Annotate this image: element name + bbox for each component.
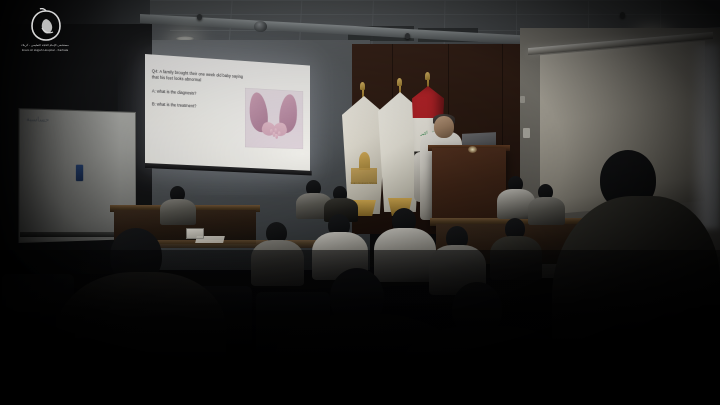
speaker-head — [434, 116, 454, 138]
projection-screen: Q4: A family brought their one week old … — [145, 54, 310, 172]
daylight-leak — [690, 44, 720, 229]
slide-part-a: A: what is the diagnosis? — [152, 88, 246, 99]
nameplate — [186, 228, 204, 239]
dome-camera-icon — [254, 21, 267, 32]
flag-finial — [425, 72, 430, 80]
lecture-hall-photo: Q4: A family brought their one week old … — [0, 0, 720, 405]
sprinkler-icon — [620, 12, 625, 18]
pomegranate-logo-icon — [30, 8, 62, 42]
flag-finial — [397, 78, 402, 86]
sprinkler-icon — [405, 33, 410, 39]
light-switch[interactable] — [523, 128, 530, 138]
floor-darkness — [0, 250, 720, 405]
hospital-watermark: مستشفى الإمام الحجة التعليمي - كربلاء Im… — [8, 6, 82, 56]
lectern — [432, 148, 506, 226]
flag-finial — [360, 82, 365, 90]
wall-outlet[interactable] — [520, 96, 525, 103]
slide-surface: Q4: A family brought their one week old … — [145, 54, 310, 172]
whiteboard-marker[interactable] — [76, 165, 83, 182]
slide-text-block: Q4: A family brought their one week old … — [152, 68, 246, 112]
watermark-english: Imam Al Hujjah Hospital - Karbala — [8, 48, 82, 52]
slide-clinical-photo — [245, 88, 303, 149]
slide-question: Q4: A family brought their one week old … — [152, 68, 246, 86]
sprinkler-icon — [197, 14, 202, 20]
flag-emblem: Imam Hussein Shrine — [350, 152, 378, 190]
laptop-indicator-light — [468, 146, 477, 153]
whiteboard-scribble: حساسية — [26, 116, 49, 124]
flag-emblem-text: Imam Hussein Shrine — [350, 182, 378, 185]
watermark-arabic: مستشفى الإمام الحجة التعليمي - كربلاء — [8, 43, 82, 47]
slide-part-b: B: what is the treatment? — [152, 102, 246, 113]
